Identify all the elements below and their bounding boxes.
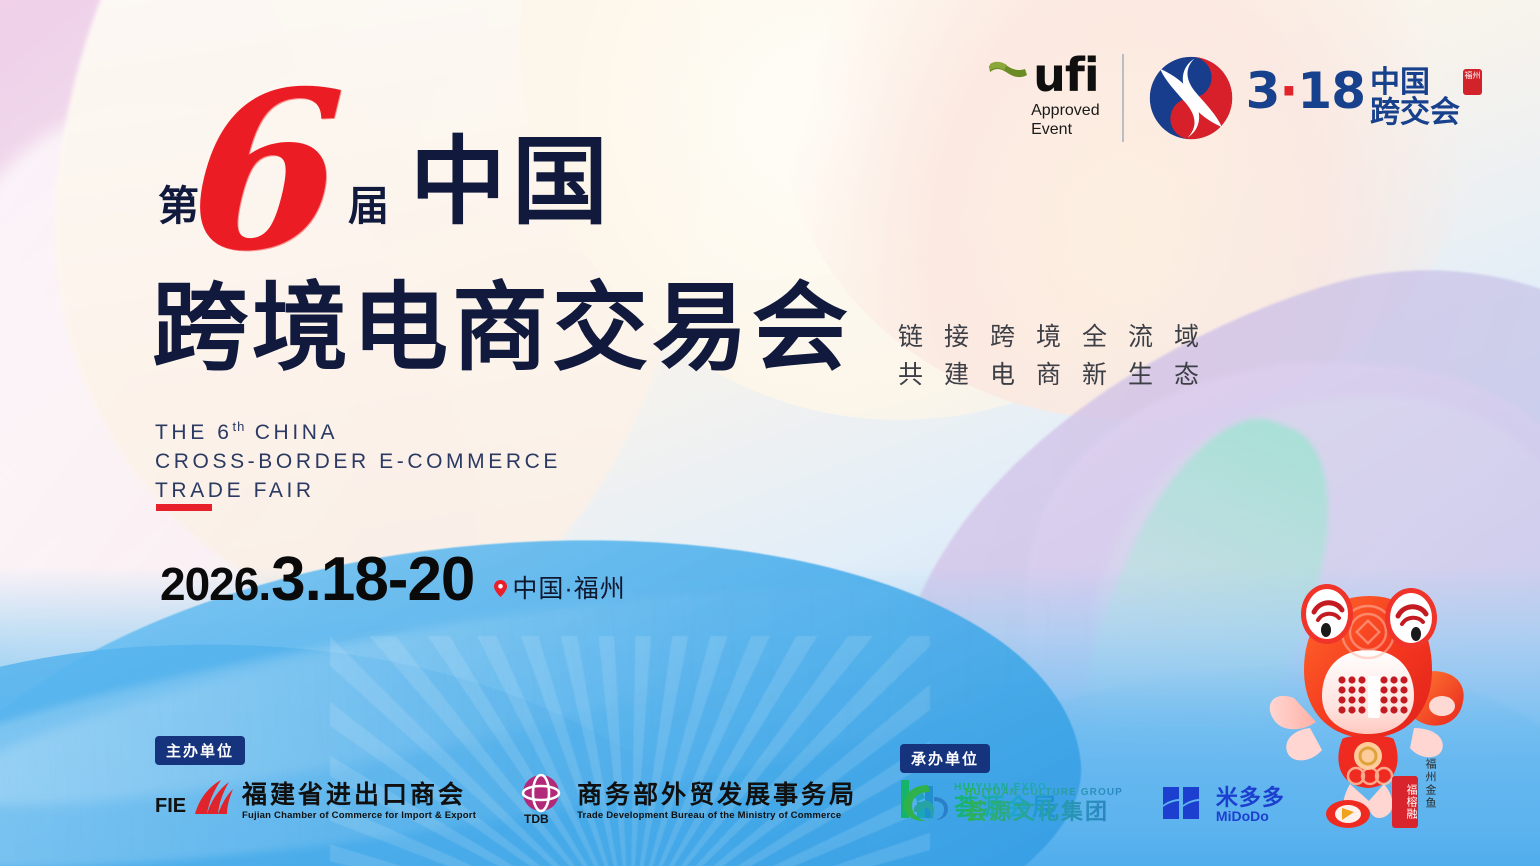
event-seal-icon: 福州 [1463,69,1482,95]
date-location-line: 2026. 3.18-20 中国·福州 [160,544,626,615]
location-block: 中国·福州 [494,569,625,605]
title-line-2: 跨境电商交易会 [152,280,852,376]
svg-text:FIE: FIE [155,795,186,817]
event-number-a: 3 [1246,62,1280,120]
event-chinese-name: 中国 跨交会 [1370,68,1460,128]
event-cn-line-1: 中国 [1370,68,1460,98]
english-subtitle: THE 6th CHINA CROSS-BORDER E-COMMERCE TR… [155,412,561,505]
slogan-line-1: 链接跨境全流域 [898,318,1220,356]
english-line-1: THE 6th CHINA [155,412,561,447]
ufi-wordmark: ufi [1033,57,1099,95]
edition-suffix: 届 [348,172,389,232]
tdb-text: 商务部外贸发展事务局 Trade Development Bureau of t… [577,782,857,821]
logo-huiyuan-culture: HUIYUAN CULTURE GROUP 荟源文化集团 [900,781,1123,830]
tdb-cn-name: 商务部外贸发展事务局 [577,782,857,808]
date-month-day: 3.18-20 [271,544,474,615]
slogan-line-2: 共建电商新生态 [898,356,1220,394]
english-line-1-b: CHINA [245,421,338,444]
tdb-en-name: Trade Development Bureau of the Ministry… [577,810,857,821]
english-line-1-a: THE 6 [155,421,233,444]
fie-cn-name: 福建省进出口商会 [242,782,476,808]
huiyuan-culture-cn-name: 荟源文化集团 [965,800,1123,823]
location-text: 中国·福州 [512,569,625,605]
title-line-1: 中国 [410,134,614,230]
event-number: 3·18 [1246,68,1365,116]
event-banner: 第 6 届 中国 跨境电商交易会 THE 6th CHINA CROSS-BOR… [0,0,1540,866]
slogan-block: 链接跨境全流域 共建电商新生态 [898,318,1220,394]
tdb-globe-icon: TDB [514,773,568,830]
ufi-subtitle-line-1: Approved [1031,101,1100,120]
ufi-logo: ufi Approved Event [987,57,1100,140]
headline-block: 第 6 届 中国 跨境电商交易会 [152,86,912,246]
english-ordinal-suffix: th [233,419,246,434]
huiyuan-culture-en-name: HUIYUAN CULTURE GROUP [965,787,1123,798]
mascot-label: 福州金鱼 [1422,758,1438,810]
mascot-seal: 福榕融 [1392,776,1418,828]
top-right-logos: ufi Approved Event [987,54,1482,142]
ufi-subtitle: Approved Event [1031,101,1100,139]
logo-tdb: TDB 商务部外贸发展事务局 Trade Development Bureau … [514,773,857,830]
fie-en-name: Fujian Chamber of Commerce for Import & … [242,810,476,821]
svg-text:TDB: TDB [524,812,549,825]
huiyuan-culture-icon [900,781,956,830]
ufi-subtitle-line-2: Event [1031,120,1100,139]
fie-text: 福建省进出口商会 Fujian Chamber of Commerce for … [242,782,476,821]
yinyang-swirl-icon [1148,55,1234,141]
edition-number: 6 [186,60,340,282]
host-tag: 主办单位 [155,736,245,765]
ufi-swoosh-icon [987,59,1031,88]
event-number-dot: · [1279,62,1297,120]
fie-swoosh-icon: FIE [155,776,233,827]
co-organizers-block: 承办单位 HUIYUAN CULTURE GROUP 荟源文化集团 [900,744,1323,830]
english-line-2: CROSS-BORDER E-COMMERCE [155,447,561,476]
midodo-icon [1161,783,1207,828]
huiyuan-culture-text: HUIYUAN CULTURE GROUP 荟源文化集团 [965,787,1123,823]
map-pin-icon [494,580,507,597]
logo-fie: FIE 福建省进出口商会 Fujian Chamber of Commerce … [155,776,476,827]
red-accent-bar [156,504,212,511]
logo-divider [1122,54,1124,142]
organizer-tag: 承办单位 [900,744,990,773]
date-year: 2026. [160,557,270,611]
event-cn-line-2: 跨交会 [1370,98,1460,128]
event-logo: 3·18 中国 跨交会 福州 [1148,55,1482,141]
fuzhou-goldfish-mascot-icon [1264,578,1474,828]
english-line-3: TRADE FAIR [155,476,561,505]
organizer-logo-row: HUIYUAN CULTURE GROUP 荟源文化集团 [900,781,1323,830]
event-number-b: 18 [1297,62,1365,120]
